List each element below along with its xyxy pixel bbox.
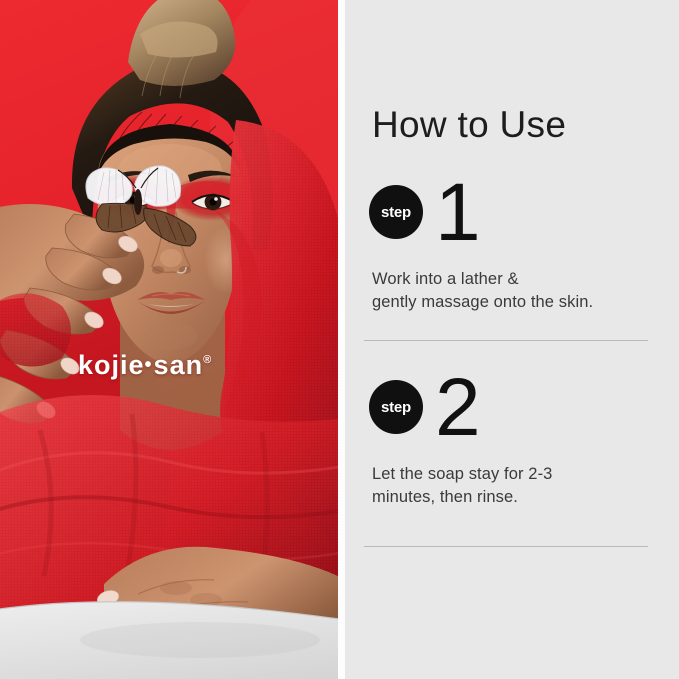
hero-photo-illustration — [0, 0, 338, 679]
divider-after-step-1 — [364, 340, 648, 341]
step-1-number: 1 — [435, 172, 481, 254]
step-2-number: 2 — [435, 367, 481, 449]
step-1-description-line-1: Work into a lather & — [372, 268, 662, 291]
page-title: How to Use — [372, 106, 566, 143]
brand-name-part-1: kojie — [78, 350, 145, 380]
step-1-header: step 1 — [345, 185, 679, 267]
brand-separator-dot: • — [145, 354, 154, 376]
registered-trademark-icon: ® — [203, 354, 211, 366]
brand-logo: kojie•san® — [78, 350, 211, 381]
panel-divider-gap — [338, 0, 345, 679]
instructions-panel: How to Use step 1 Work into a lather & g… — [345, 0, 679, 679]
step-2-badge-label: step — [381, 399, 411, 416]
step-1-description: Work into a lather & gently massage onto… — [372, 268, 662, 315]
step-1-badge-label: step — [381, 204, 411, 221]
step-1-description-line-2: gently massage onto the skin. — [372, 291, 662, 314]
step-item-2: step 2 Let the soap stay for 2-3 minutes… — [345, 380, 679, 462]
step-2-description-line-1: Let the soap stay for 2-3 — [372, 463, 662, 486]
brand-name-part-2: san — [154, 350, 204, 380]
product-hero-photo: kojie•san® — [0, 0, 338, 679]
step-2-badge: step — [369, 380, 423, 434]
step-2-description: Let the soap stay for 2-3 minutes, then … — [372, 463, 662, 510]
product-instruction-card: kojie•san® How to Use step 1 Work into a… — [0, 0, 679, 679]
step-1-badge: step — [369, 185, 423, 239]
step-2-header: step 2 — [345, 380, 679, 462]
step-2-description-line-2: minutes, then rinse. — [372, 486, 662, 509]
step-item-1: step 1 Work into a lather & gently massa… — [345, 185, 679, 267]
divider-after-step-2 — [364, 546, 648, 547]
